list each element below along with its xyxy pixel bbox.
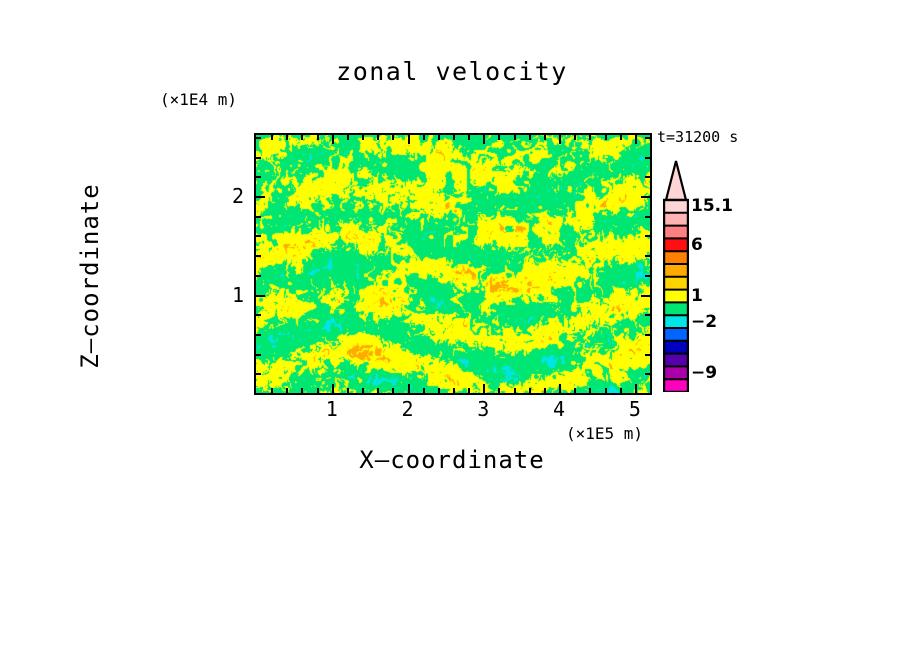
x-tick-major bbox=[408, 384, 410, 393]
x-tick-minor bbox=[544, 388, 546, 393]
y-tick-minor bbox=[256, 373, 261, 375]
y-tick-minor-right bbox=[645, 275, 650, 277]
y-tick-minor bbox=[256, 255, 261, 257]
x-tick-minor bbox=[423, 388, 425, 393]
colorbar-band bbox=[665, 290, 687, 303]
x-tick-minor-top bbox=[362, 135, 364, 140]
x-tick-minor-top bbox=[468, 135, 470, 140]
x-tick-minor-top bbox=[423, 135, 425, 140]
x-tick-major bbox=[483, 384, 485, 393]
x-tick-minor bbox=[620, 388, 622, 393]
x-tick-minor bbox=[301, 388, 303, 393]
y-tick-major bbox=[256, 295, 265, 297]
y-tick-minor-right bbox=[645, 176, 650, 178]
x-axis-unit-label: (×1E5 m) bbox=[566, 424, 643, 443]
colorbar-band bbox=[665, 251, 687, 264]
x-tick-minor-top bbox=[529, 135, 531, 140]
x-tick-major-top bbox=[483, 135, 485, 144]
x-tick-minor bbox=[271, 388, 273, 393]
colorbar-band bbox=[665, 213, 687, 226]
y-tick-minor-right bbox=[645, 373, 650, 375]
colorbar-band bbox=[665, 328, 687, 341]
y-tick-minor bbox=[256, 235, 261, 237]
colorbar-tick-label: −9 bbox=[691, 363, 717, 383]
y-tick-label: 1 bbox=[220, 283, 244, 307]
x-tick-minor bbox=[589, 388, 591, 393]
y-tick-major-right bbox=[641, 295, 650, 297]
colorbar-band bbox=[665, 366, 687, 379]
y-tick-minor bbox=[256, 157, 261, 159]
colorbar-arrow-icon bbox=[666, 161, 686, 200]
x-tick-minor-top bbox=[574, 135, 576, 140]
y-tick-minor bbox=[256, 334, 261, 336]
x-tick-minor-top bbox=[286, 135, 288, 140]
y-tick-minor-right bbox=[645, 354, 650, 356]
x-tick-minor-top bbox=[438, 135, 440, 140]
colorbar-tick-label: −2 bbox=[691, 312, 717, 332]
y-tick-minor-right bbox=[645, 314, 650, 316]
x-tick-minor bbox=[468, 388, 470, 393]
x-tick-major bbox=[635, 384, 637, 393]
x-tick-label: 2 bbox=[402, 397, 414, 421]
x-tick-minor bbox=[347, 388, 349, 393]
y-tick-minor-right bbox=[645, 334, 650, 336]
x-tick-minor-top bbox=[650, 135, 652, 140]
colorbar-band bbox=[665, 277, 687, 290]
x-tick-minor bbox=[650, 388, 652, 393]
y-tick-major-right bbox=[641, 196, 650, 198]
y-tick-minor bbox=[256, 137, 261, 139]
x-tick-minor-top bbox=[317, 135, 319, 140]
colorbar-band bbox=[665, 200, 687, 213]
y-tick-minor-right bbox=[645, 157, 650, 159]
colorbar-band bbox=[665, 264, 687, 277]
y-axis-title: Z—coordinate bbox=[76, 126, 104, 426]
colorbar-band bbox=[665, 341, 687, 354]
x-tick-minor bbox=[392, 388, 394, 393]
x-tick-minor-top bbox=[620, 135, 622, 140]
x-tick-minor bbox=[529, 388, 531, 393]
page-title: zonal velocity bbox=[0, 57, 904, 86]
x-tick-minor-top bbox=[377, 135, 379, 140]
x-tick-minor-top bbox=[347, 135, 349, 140]
timestamp-label: t=31200 s bbox=[657, 128, 738, 146]
y-tick-label: 2 bbox=[220, 184, 244, 208]
x-tick-minor-top bbox=[498, 135, 500, 140]
x-tick-minor-top bbox=[514, 135, 516, 140]
y-tick-minor bbox=[256, 216, 261, 218]
x-tick-minor bbox=[574, 388, 576, 393]
x-tick-minor-top bbox=[392, 135, 394, 140]
x-tick-minor-top bbox=[544, 135, 546, 140]
y-tick-minor-right bbox=[645, 235, 650, 237]
heatmap-canvas bbox=[256, 135, 650, 393]
heatmap-plot-area bbox=[254, 133, 652, 395]
x-tick-label: 3 bbox=[477, 397, 489, 421]
y-tick-minor bbox=[256, 275, 261, 277]
colorbar-band bbox=[665, 354, 687, 367]
x-tick-minor bbox=[605, 388, 607, 393]
x-tick-label: 4 bbox=[553, 397, 565, 421]
y-tick-minor bbox=[256, 314, 261, 316]
colorbar-tick-label: 6 bbox=[691, 235, 703, 255]
x-tick-minor bbox=[453, 388, 455, 393]
x-tick-major bbox=[559, 384, 561, 393]
y-tick-minor-right bbox=[645, 216, 650, 218]
colorbar-tick-label: 15.1 bbox=[691, 196, 733, 216]
x-tick-minor bbox=[317, 388, 319, 393]
x-tick-minor bbox=[498, 388, 500, 393]
x-axis-title: X—coordinate bbox=[0, 446, 904, 474]
colorbar-svg bbox=[663, 160, 689, 392]
y-tick-minor bbox=[256, 354, 261, 356]
x-tick-major-top bbox=[635, 135, 637, 144]
x-tick-minor bbox=[377, 388, 379, 393]
x-tick-label: 1 bbox=[326, 397, 338, 421]
colorbar-band bbox=[665, 315, 687, 328]
colorbar-tick-label: 1 bbox=[691, 286, 703, 306]
x-tick-label: 5 bbox=[629, 397, 641, 421]
x-tick-major-top bbox=[332, 135, 334, 144]
x-tick-minor-top bbox=[301, 135, 303, 140]
y-axis-unit-label: (×1E4 m) bbox=[160, 90, 237, 109]
colorbar-band bbox=[665, 302, 687, 315]
colorbar-band bbox=[665, 226, 687, 239]
x-tick-minor bbox=[514, 388, 516, 393]
colorbar-band bbox=[665, 379, 687, 392]
y-tick-minor-right bbox=[645, 255, 650, 257]
x-tick-major-top bbox=[408, 135, 410, 144]
x-tick-minor-top bbox=[453, 135, 455, 140]
x-tick-major-top bbox=[559, 135, 561, 144]
colorbar bbox=[663, 160, 689, 392]
x-tick-minor bbox=[438, 388, 440, 393]
x-tick-minor-top bbox=[589, 135, 591, 140]
x-tick-major bbox=[332, 384, 334, 393]
y-tick-minor-right bbox=[645, 137, 650, 139]
y-tick-minor bbox=[256, 176, 261, 178]
x-tick-minor bbox=[362, 388, 364, 393]
colorbar-band bbox=[665, 238, 687, 251]
x-tick-minor-top bbox=[271, 135, 273, 140]
x-tick-minor bbox=[286, 388, 288, 393]
y-tick-major bbox=[256, 196, 265, 198]
x-tick-minor-top bbox=[605, 135, 607, 140]
